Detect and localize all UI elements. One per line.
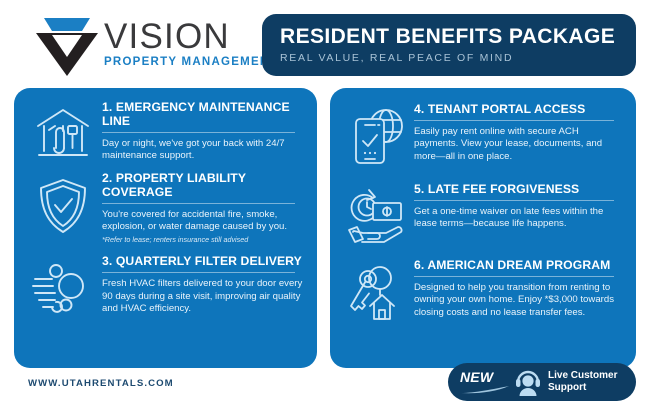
- benefit-body-3: Fresh HVAC filters delivered to your doo…: [102, 278, 303, 315]
- new-label: NEW: [460, 370, 512, 385]
- brand-name: VISION: [104, 20, 278, 54]
- divider: [102, 272, 295, 273]
- benefit-item-4: 4. TENANT PORTAL ACCESS Easily pay rent …: [340, 102, 626, 168]
- badge-line-1: Live Customer: [548, 370, 617, 382]
- benefit-item-5: 5. LATE FEE FORGIVENESS Get a one-time w…: [340, 182, 626, 244]
- benefit-body-6: Designed to help you transition from ren…: [414, 282, 622, 319]
- keys-house-icon: [340, 258, 414, 324]
- benefit-text-4: 4. TENANT PORTAL ACCESS Easily pay rent …: [414, 102, 626, 163]
- banner-title: RESIDENT BENEFITS PACKAGE: [280, 24, 636, 49]
- benefit-title-5: 5. LATE FEE FORGIVENESS: [414, 182, 622, 196]
- benefit-item-1: 1. EMERGENCY MAINTENANCE LINE Day or nig…: [24, 100, 307, 163]
- benefit-text-2: 2. PROPERTY LIABILITY COVERAGE You're co…: [102, 171, 307, 244]
- divider: [414, 276, 614, 277]
- live-support-badge[interactable]: NEW Live Customer Support: [448, 363, 636, 401]
- vision-v-logo-icon: [28, 8, 100, 80]
- brand-tagline: PROPERTY MANAGEMENT: [104, 55, 278, 69]
- benefits-panel-right: 4. TENANT PORTAL ACCESS Easily pay rent …: [330, 88, 636, 368]
- air-filter-wind-icon: [24, 254, 102, 314]
- house-tools-icon: [24, 100, 102, 162]
- website-url[interactable]: WWW.UTAHRENTALS.COM: [28, 378, 174, 389]
- benefit-note-2: *Refer to lease; renters insurance still…: [102, 235, 303, 245]
- benefit-title-1: 1. EMERGENCY MAINTENANCE LINE: [102, 100, 303, 128]
- company-logo: VISION PROPERTY MANAGEMENT: [28, 8, 278, 80]
- benefits-panel-left: 1. EMERGENCY MAINTENANCE LINE Day or nig…: [14, 88, 317, 368]
- benefit-text-3: 3. QUARTERLY FILTER DELIVERY Fresh HVAC …: [102, 254, 307, 315]
- benefit-body-5: Get a one-time waiver on late fees withi…: [414, 206, 622, 231]
- benefit-title-3: 3. QUARTERLY FILTER DELIVERY: [102, 254, 303, 268]
- new-label-group: NEW: [460, 370, 512, 394]
- benefit-body-1: Day or night, we've got your back with 2…: [102, 138, 303, 163]
- benefit-item-6: 6. AMERICAN DREAM PROGRAM Designed to he…: [340, 258, 626, 324]
- divider: [102, 132, 295, 133]
- badge-line-2: Support: [548, 382, 617, 394]
- benefit-item-3: 3. QUARTERLY FILTER DELIVERY Fresh HVAC …: [24, 254, 307, 315]
- banner-subtitle: REAL VALUE, REAL PEACE OF MIND: [280, 51, 636, 65]
- header: VISION PROPERTY MANAGEMENT RESIDENT BENE…: [0, 0, 650, 88]
- benefit-title-6: 6. AMERICAN DREAM PROGRAM: [414, 258, 622, 272]
- divider: [102, 203, 295, 204]
- divider: [414, 120, 614, 121]
- divider: [414, 200, 614, 201]
- phone-globe-icon: [340, 102, 414, 168]
- benefit-body-2: You're covered for accidental fire, smok…: [102, 209, 303, 234]
- headset-support-avatar-icon: [514, 368, 542, 396]
- wordmark: VISION PROPERTY MANAGEMENT: [104, 20, 278, 69]
- shield-check-icon: [24, 171, 102, 237]
- benefit-item-2: 2. PROPERTY LIABILITY COVERAGE You're co…: [24, 171, 307, 244]
- benefit-text-1: 1. EMERGENCY MAINTENANCE LINE Day or nig…: [102, 100, 307, 163]
- badge-text: Live Customer Support: [548, 370, 617, 394]
- title-banner: RESIDENT BENEFITS PACKAGE REAL VALUE, RE…: [262, 14, 636, 76]
- hand-money-clock-icon: [340, 182, 414, 244]
- benefit-text-6: 6. AMERICAN DREAM PROGRAM Designed to he…: [414, 258, 626, 319]
- resident-benefits-infographic: VISION PROPERTY MANAGEMENT RESIDENT BENE…: [0, 0, 650, 406]
- benefit-title-2: 2. PROPERTY LIABILITY COVERAGE: [102, 171, 303, 199]
- footer: WWW.UTAHRENTALS.COM NEW: [0, 368, 650, 406]
- benefit-body-4: Easily pay rent online with secure ACH p…: [414, 126, 622, 163]
- swoosh-underline-icon: [460, 386, 512, 394]
- benefit-title-4: 4. TENANT PORTAL ACCESS: [414, 102, 622, 116]
- benefit-text-5: 5. LATE FEE FORGIVENESS Get a one-time w…: [414, 182, 626, 231]
